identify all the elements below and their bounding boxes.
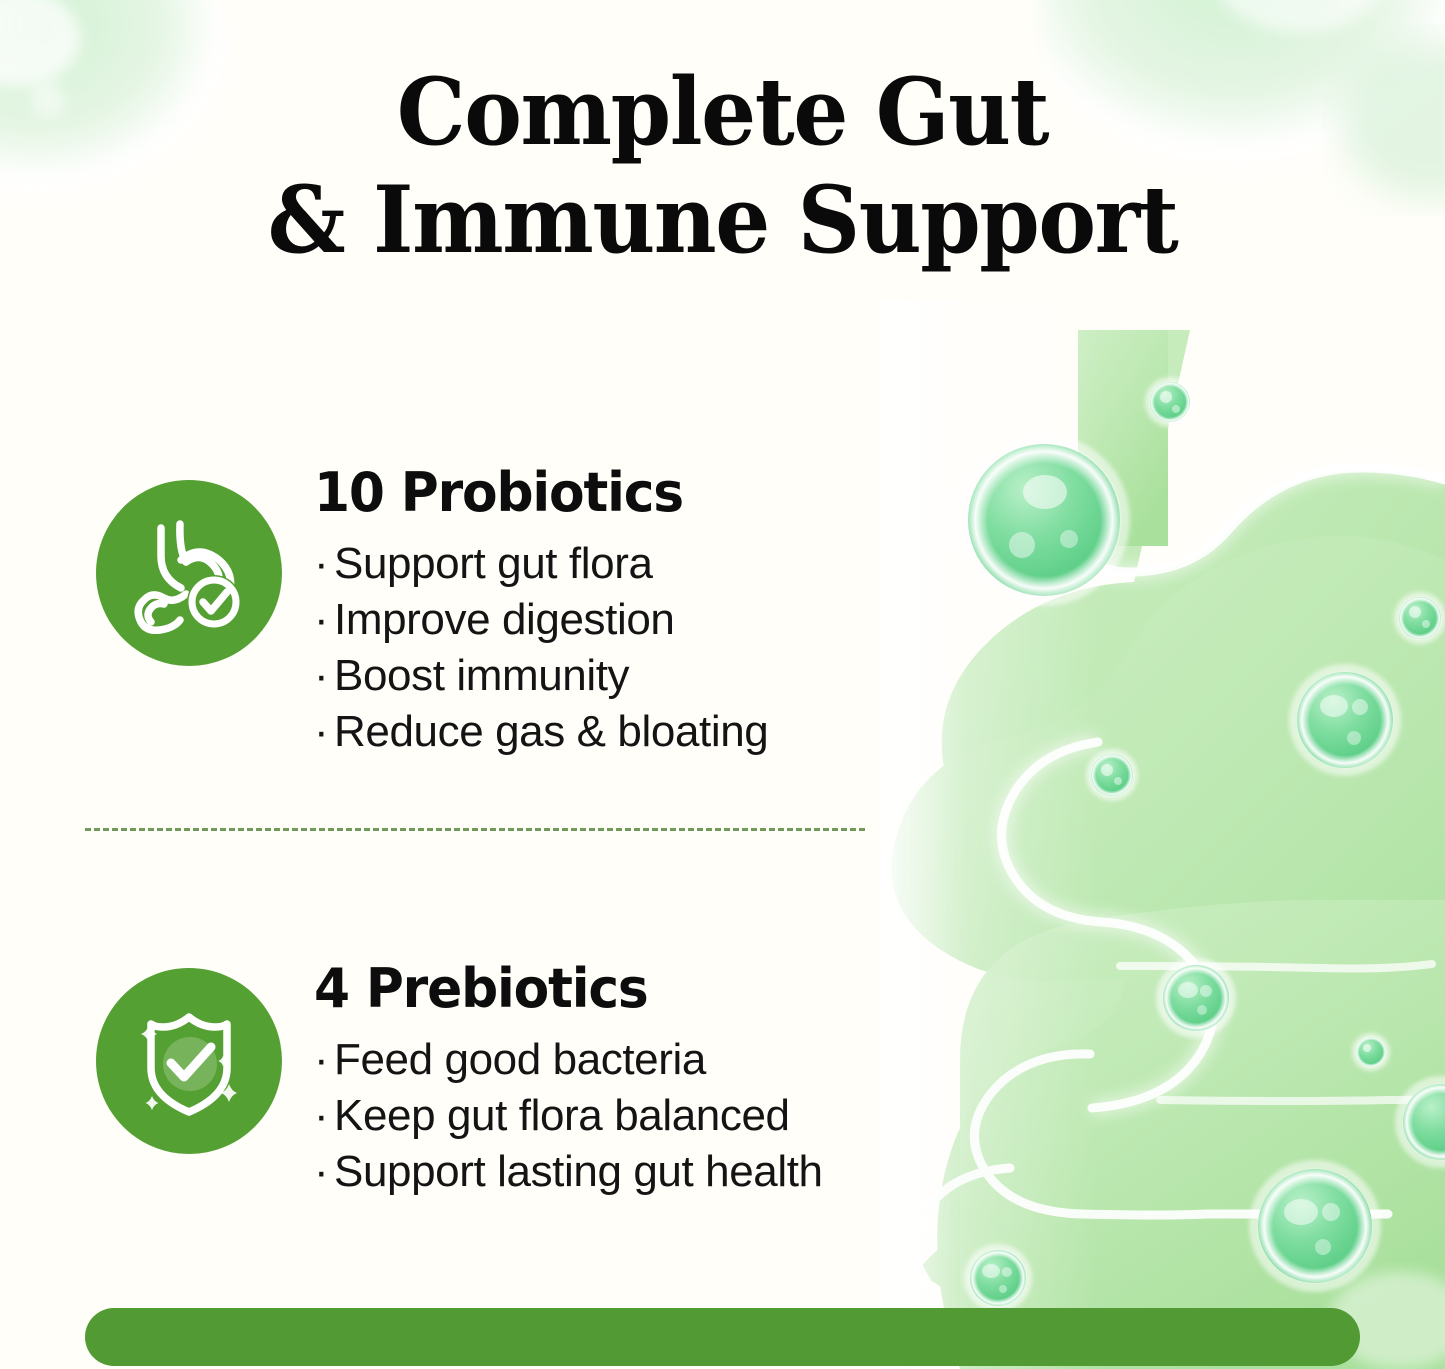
title-line-1: Complete Gut <box>51 58 1395 166</box>
infographic-canvas: Complete Gut & Immune Support <box>0 0 1445 1369</box>
bubble-medium-mid-right <box>1289 664 1401 776</box>
bubble-small-coil-left <box>1086 749 1138 801</box>
bullet-dot: · <box>314 648 334 704</box>
bubble-right-edge-mid <box>1395 1076 1445 1168</box>
feature-block-prebiotics: 4 Prebiotics ·Feed good bacteria ·Keep g… <box>96 962 823 1200</box>
bubble-right-edge-small <box>1394 592 1445 644</box>
title-line-2: & Immune Support <box>51 166 1395 274</box>
list-item: ·Improve digestion <box>314 592 768 648</box>
bullet-text: Support gut flora <box>334 539 653 588</box>
bullet-text: Reduce gas & bloating <box>334 707 768 756</box>
probiotics-icon-badge <box>96 480 282 666</box>
list-item: ·Support gut flora <box>314 536 768 592</box>
bullet-dot: · <box>314 1088 334 1144</box>
bullet-text: Support lasting gut health <box>334 1147 823 1196</box>
probiotics-heading: 10 Probiotics <box>314 466 750 520</box>
bubble-large-lower-right <box>1249 1160 1381 1292</box>
intestine-coil-lines <box>914 468 1445 1280</box>
prebiotics-bullet-list: ·Feed good bacteria ·Keep gut flora bala… <box>314 1032 823 1200</box>
bullet-dot: · <box>314 1144 334 1200</box>
bubble-small-top <box>1145 377 1195 427</box>
bullet-text: Feed good bacteria <box>334 1035 706 1084</box>
bullet-text: Keep gut flora balanced <box>334 1091 790 1140</box>
digestive-organ-silhouette <box>880 300 1445 1369</box>
bubble-tiny-mid <box>1352 1033 1390 1071</box>
list-item: ·Boost immunity <box>314 648 768 704</box>
page-title: Complete Gut & Immune Support <box>0 58 1445 274</box>
bullet-dot: · <box>314 536 334 592</box>
prebiotics-icon-badge <box>96 968 282 1154</box>
bullet-dot: · <box>314 1032 334 1088</box>
list-item: ·Support lasting gut health <box>314 1144 823 1200</box>
prebiotics-heading: 4 Prebiotics <box>314 962 802 1016</box>
bullet-dot: · <box>314 704 334 760</box>
bubble-large-upper <box>958 434 1130 606</box>
list-item: ·Keep gut flora balanced <box>314 1088 823 1144</box>
list-item: ·Reduce gas & bloating <box>314 704 768 760</box>
prebiotics-text: 4 Prebiotics ·Feed good bacteria ·Keep g… <box>314 962 823 1200</box>
section-divider <box>85 828 865 831</box>
bullet-text: Boost immunity <box>334 651 629 700</box>
stomach-check-icon <box>128 512 250 634</box>
probiotics-text: 10 Probiotics ·Support gut flora ·Improv… <box>314 466 768 760</box>
bubble-medium-lower-left <box>1156 958 1236 1038</box>
bullet-dot: · <box>314 592 334 648</box>
shield-check-icon <box>128 1000 250 1122</box>
list-item: ·Feed good bacteria <box>314 1032 823 1088</box>
bullet-text: Improve digestion <box>334 595 675 644</box>
probiotics-bullet-list: ·Support gut flora ·Improve digestion ·B… <box>314 536 768 760</box>
coil-glow <box>1001 468 1445 1108</box>
feature-block-probiotics: 10 Probiotics ·Support gut flora ·Improv… <box>96 466 768 760</box>
bottom-accent-bar <box>85 1308 1360 1366</box>
bubble-small-bottom-left <box>964 1244 1032 1312</box>
